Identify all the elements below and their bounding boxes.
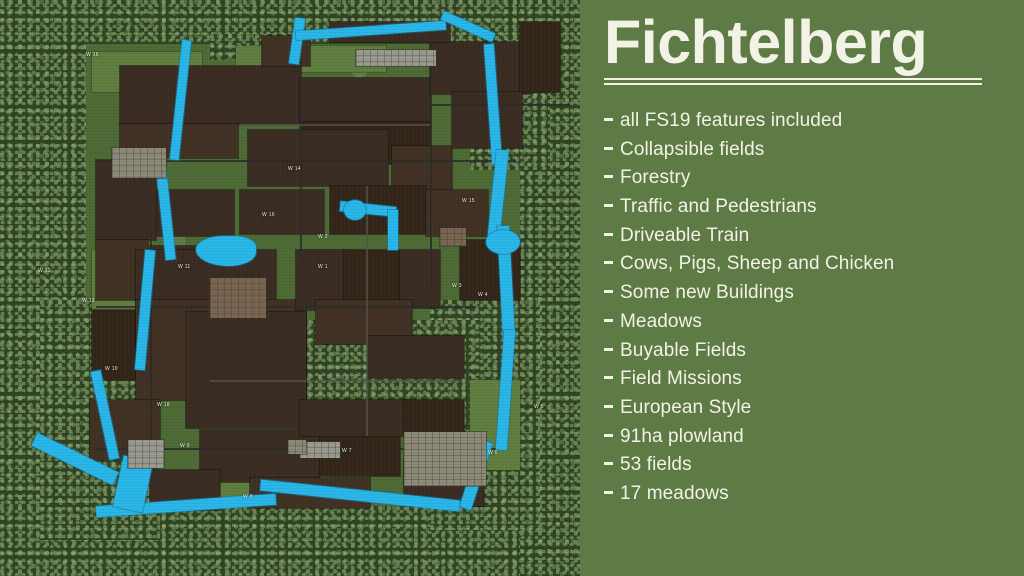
feature-list-item: Buyable Fields xyxy=(604,340,1004,369)
field-parcel xyxy=(392,146,452,190)
feature-list-item-label: 53 fields xyxy=(620,454,692,476)
feature-list-item: Cows, Pigs, Sheep and Chicken xyxy=(604,253,1004,282)
road-segment xyxy=(300,60,302,260)
field-parcel xyxy=(430,42,530,94)
info-panel: Fichtelberg all FS19 features includedCo… xyxy=(580,0,1024,576)
feature-list-item-label: Cows, Pigs, Sheep and Chicken xyxy=(620,253,894,275)
page-title: Fichtelberg xyxy=(604,12,1004,73)
map-aerial-image: W 16W 14W 15W 16W 2W 1W 13W 11W 3W 4W 12… xyxy=(0,0,580,576)
building-cluster-west-yard xyxy=(112,148,166,178)
building-cluster-north-silos xyxy=(356,50,436,66)
map-panel: W 16W 14W 15W 16W 2W 1W 13W 11W 3W 4W 12… xyxy=(0,0,580,576)
feature-list-item-label: Field Missions xyxy=(620,368,742,390)
bullet-dash-icon xyxy=(604,462,613,465)
road-segment xyxy=(430,42,432,282)
bullet-dash-icon xyxy=(604,348,613,351)
title-block: Fichtelberg xyxy=(604,12,1004,86)
bullet-dash-icon xyxy=(604,175,613,178)
feature-list-item: 91ha plowland xyxy=(604,426,1004,455)
feature-list-item: all FS19 features included xyxy=(604,110,1004,139)
feature-list-item-label: 91ha plowland xyxy=(620,426,744,448)
field-parcel xyxy=(240,190,324,234)
road-segment xyxy=(240,124,430,126)
feature-list-item-label: Driveable Train xyxy=(620,225,749,247)
feature-list-item: 17 meadows xyxy=(604,483,1004,512)
building-cluster-east-barn xyxy=(440,228,466,246)
feature-list-item-label: Forestry xyxy=(620,167,690,189)
feature-list-item: Forestry xyxy=(604,167,1004,196)
bullet-dash-icon xyxy=(604,261,613,264)
feature-list-item-label: 17 meadows xyxy=(620,483,729,505)
field-parcel xyxy=(186,312,306,428)
river-tributary-mid xyxy=(388,210,398,250)
bullet-dash-icon xyxy=(604,319,613,322)
river-pond-east xyxy=(486,230,520,254)
river-tributary-mid xyxy=(344,200,366,220)
feature-list-item-label: Collapsible fields xyxy=(620,139,764,161)
bullet-dash-icon xyxy=(604,491,613,494)
field-parcel xyxy=(248,130,388,186)
road-segment xyxy=(96,306,476,308)
underline-rule-bottom xyxy=(604,83,982,85)
building-cluster-southwest-yard xyxy=(128,440,164,468)
building-cluster-central-farm xyxy=(210,278,266,318)
bullet-dash-icon xyxy=(604,376,613,379)
feature-list-item: Meadows xyxy=(604,311,1004,340)
field-parcel xyxy=(120,66,300,124)
feature-list-item: 53 fields xyxy=(604,454,1004,483)
feature-list-item: Field Missions xyxy=(604,368,1004,397)
railway-line xyxy=(430,104,570,106)
building-cluster-south-town xyxy=(404,432,486,486)
road-segment xyxy=(366,186,368,436)
feature-list: all FS19 features includedCollapsible fi… xyxy=(604,110,1004,512)
bullet-dash-icon xyxy=(604,405,613,408)
bullet-dash-icon xyxy=(604,118,613,121)
field-parcel xyxy=(404,400,464,436)
building-cluster-mid-depot xyxy=(300,442,340,458)
feature-list-item: Driveable Train xyxy=(604,225,1004,254)
field-parcel xyxy=(300,78,430,122)
feature-list-item-label: European Style xyxy=(620,397,751,419)
field-parcel xyxy=(368,336,464,378)
promo-banner: W 16W 14W 15W 16W 2W 1W 13W 11W 3W 4W 12… xyxy=(0,0,1024,576)
feature-list-item-label: Buyable Fields xyxy=(620,340,746,362)
field-parcel xyxy=(262,36,310,66)
building-cluster-central-small xyxy=(288,440,306,454)
field-parcel xyxy=(300,400,410,436)
feature-list-item-label: Some new Buildings xyxy=(620,282,794,304)
underline-rule-top xyxy=(604,78,982,80)
feature-list-item-label: Traffic and Pedestrians xyxy=(620,196,817,218)
bullet-dash-icon xyxy=(604,147,613,150)
field-parcel xyxy=(520,22,560,92)
feature-list-item-label: Meadows xyxy=(620,311,702,333)
title-underline xyxy=(604,78,982,86)
feature-list-item: Collapsible fields xyxy=(604,139,1004,168)
feature-list-item: European Style xyxy=(604,397,1004,426)
bullet-dash-icon xyxy=(604,434,613,437)
bullet-dash-icon xyxy=(604,233,613,236)
road-segment xyxy=(210,380,460,382)
feature-list-item: Some new Buildings xyxy=(604,282,1004,311)
feature-list-item-label: all FS19 features included xyxy=(620,110,842,132)
bullet-dash-icon xyxy=(604,204,613,207)
bullet-dash-icon xyxy=(604,290,613,293)
feature-list-item: Traffic and Pedestrians xyxy=(604,196,1004,225)
